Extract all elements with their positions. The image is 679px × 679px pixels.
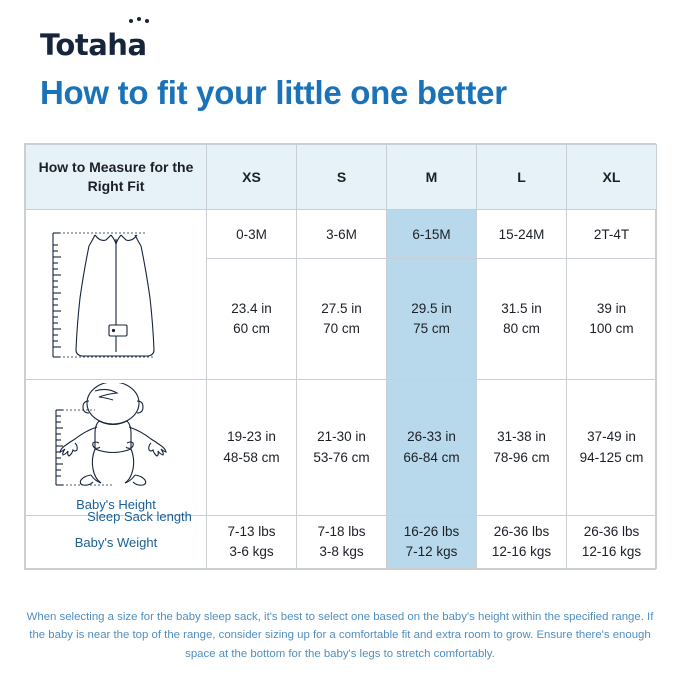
cell-height-l: 31-38 in78-96 cm	[477, 380, 567, 516]
height-xl-cm: 94-125 cm	[580, 450, 644, 465]
height-m-in: 26-33 in	[407, 429, 456, 444]
brand-logo-umlaut-letter: a	[127, 28, 146, 62]
header-size-xs: XS	[207, 145, 297, 210]
header-size-m: M	[387, 145, 477, 210]
cell-baby-illustration: Baby's Height	[26, 380, 207, 516]
size-chart-table-container: How to Measure for the Right Fit XS S M …	[24, 143, 656, 570]
cell-height-xs: 19-23 in48-58 cm	[207, 380, 297, 516]
baby-illustration-icon	[33, 383, 199, 493]
umlaut-dots-icon	[129, 19, 149, 26]
height-xs-cm: 48-58 cm	[223, 450, 279, 465]
height-l-in: 31-38 in	[497, 429, 546, 444]
header-size-l: L	[477, 145, 567, 210]
table-header-row: How to Measure for the Right Fit XS S M …	[26, 145, 657, 210]
weight-s-kgs: 3-8 kgs	[319, 544, 363, 559]
cell-length-s: 27.5 in70 cm	[297, 259, 387, 380]
cell-height-xl: 37-49 in94-125 cm	[567, 380, 657, 516]
length-l-in: 31.5 in	[501, 301, 542, 316]
baby-illustration-box	[26, 383, 206, 493]
cell-length-xs: 23.4 in60 cm	[207, 259, 297, 380]
cell-age-m: 6-15M	[387, 210, 477, 259]
weight-s-lbs: 7-18 lbs	[317, 524, 365, 539]
length-m-in: 29.5 in	[411, 301, 452, 316]
header-measure-label: How to Measure for the Right Fit	[26, 145, 207, 210]
cell-weight-xl: 26-36 lbs12-16 kgs	[567, 516, 657, 569]
height-s-cm: 53-76 cm	[313, 450, 369, 465]
length-xs-in: 23.4 in	[231, 301, 272, 316]
cell-age-xl: 2T-4T	[567, 210, 657, 259]
cell-length-l: 31.5 in80 cm	[477, 259, 567, 380]
size-chart-table: How to Measure for the Right Fit XS S M …	[25, 144, 657, 569]
row-label-baby-weight: Baby's Weight	[26, 535, 206, 550]
cell-weight-s: 7-18 lbs3-8 kgs	[297, 516, 387, 569]
brand-logo-text: Totah	[40, 28, 127, 62]
brand-logo-accent-letter: a	[127, 28, 146, 62]
length-xs-cm: 60 cm	[233, 321, 270, 336]
weight-m-kgs: 7-12 kgs	[406, 544, 458, 559]
length-s-cm: 70 cm	[323, 321, 360, 336]
cell-height-m: 26-33 in66-84 cm	[387, 380, 477, 516]
cell-weight-l: 26-36 lbs12-16 kgs	[477, 516, 567, 569]
weight-xs-kgs: 3-6 kgs	[229, 544, 273, 559]
cell-age-l: 15-24M	[477, 210, 567, 259]
weight-m-lbs: 16-26 lbs	[404, 524, 460, 539]
length-l-cm: 80 cm	[503, 321, 540, 336]
page-title: How to fit your little one better	[40, 74, 507, 112]
height-xl-in: 37-49 in	[587, 429, 636, 444]
length-s-in: 27.5 in	[321, 301, 362, 316]
table-row-age: 0-3M 3-6M 6-15M 15-24M 2T-4T	[26, 210, 657, 259]
table-row-baby-height: Baby's Height 19-23 in48-58 cm 21-30 in5…	[26, 380, 657, 516]
weight-xl-lbs: 26-36 lbs	[584, 524, 640, 539]
weight-l-kgs: 12-16 kgs	[492, 544, 551, 559]
cell-sleep-sack-illustration	[26, 210, 207, 380]
cell-length-xl: 39 in100 cm	[567, 259, 657, 380]
height-l-cm: 78-96 cm	[493, 450, 549, 465]
cell-age-s: 3-6M	[297, 210, 387, 259]
weight-l-lbs: 26-36 lbs	[494, 524, 550, 539]
height-m-cm: 66-84 cm	[403, 450, 459, 465]
sleep-sack-illustration-box	[26, 219, 206, 371]
length-xl-cm: 100 cm	[589, 321, 633, 336]
cell-weight-m: 16-26 lbs7-12 kgs	[387, 516, 477, 569]
weight-xs-lbs: 7-13 lbs	[227, 524, 275, 539]
cell-length-m: 29.5 in75 cm	[387, 259, 477, 380]
row-label-sleep-sack-length: Sleep Sack length	[49, 509, 230, 524]
footer-note: When selecting a size for the baby sleep…	[22, 608, 658, 663]
height-s-in: 21-30 in	[317, 429, 366, 444]
length-m-cm: 75 cm	[413, 321, 450, 336]
brand-logo: Totaha	[40, 28, 147, 62]
header-size-xl: XL	[567, 145, 657, 210]
sleep-sack-illustration-icon	[33, 219, 199, 371]
weight-xl-kgs: 12-16 kgs	[582, 544, 641, 559]
header-size-s: S	[297, 145, 387, 210]
height-xs-in: 19-23 in	[227, 429, 276, 444]
cell-height-s: 21-30 in53-76 cm	[297, 380, 387, 516]
length-xl-in: 39 in	[597, 301, 626, 316]
cell-age-xs: 0-3M	[207, 210, 297, 259]
